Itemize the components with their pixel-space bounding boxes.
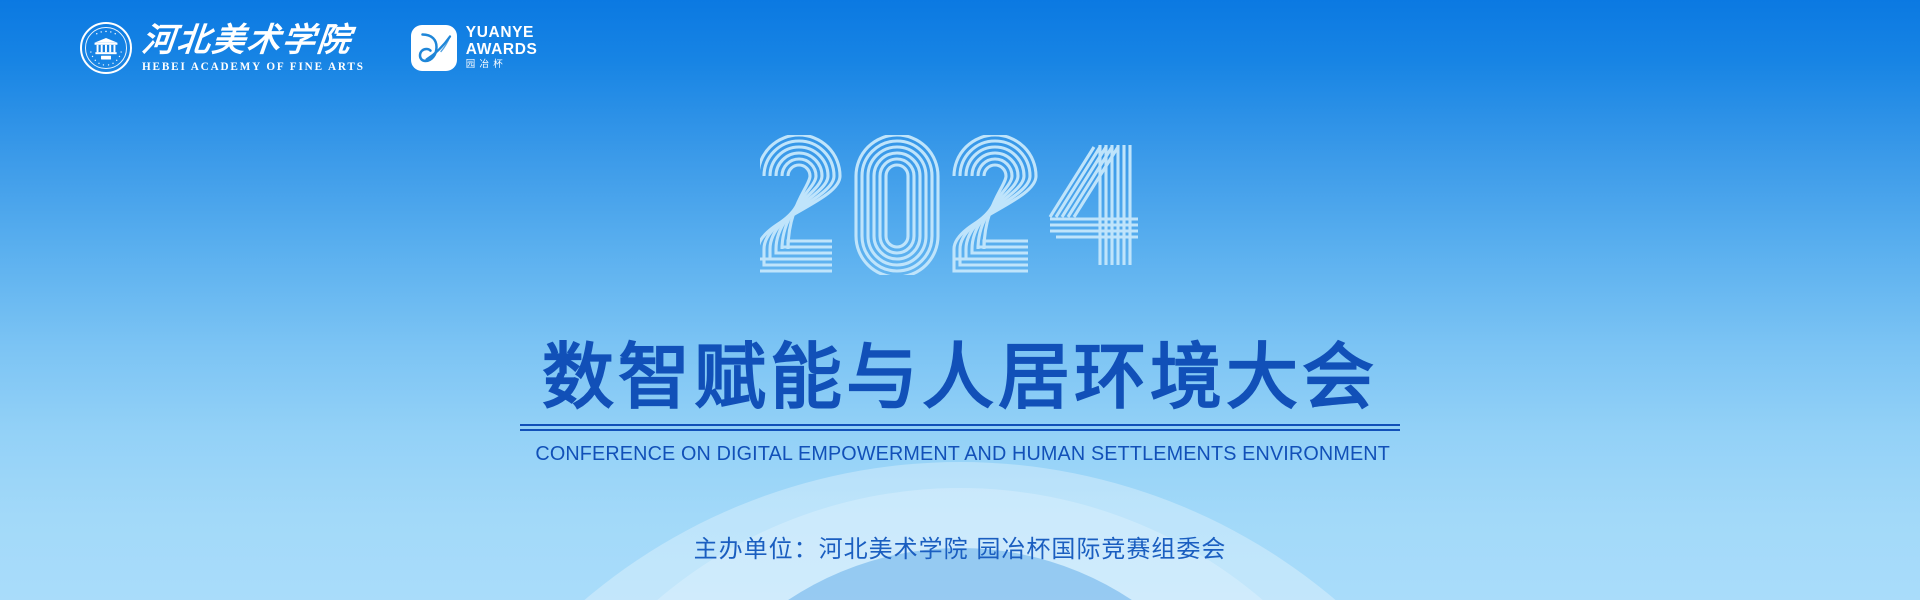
yuanye-line-3-cn: 园冶杯 bbox=[466, 58, 538, 71]
yuanye-awards-logo: YUANYE AWARDS 园冶杯 bbox=[411, 25, 538, 71]
title-rule-1 bbox=[520, 424, 1400, 426]
hebei-academy-seal-icon bbox=[80, 22, 132, 74]
yuanye-awards-wordmark: YUANYE AWARDS 园冶杯 bbox=[466, 25, 538, 71]
hebei-academy-logo: 河北美术学院 HEBEI ACADEMY OF FINE ARTS bbox=[80, 22, 365, 74]
conference-title-en: CONFERENCE ON DIGITAL EMPOWERMENT AND HU… bbox=[535, 442, 1384, 466]
yuanye-line-2: AWARDS bbox=[466, 41, 538, 58]
hebei-academy-name-cn: 河北美术学院 bbox=[140, 23, 367, 59]
arc-outer-shape bbox=[380, 462, 1540, 600]
logo-row: 河北美术学院 HEBEI ACADEMY OF FINE ARTS YUANYE… bbox=[80, 22, 537, 74]
title-block: 数智赋能与人居环境大会 CONFERENCE ON DIGITAL EMPOWE… bbox=[520, 338, 1400, 466]
conference-banner: 河北美术学院 HEBEI ACADEMY OF FINE ARTS YUANYE… bbox=[0, 0, 1920, 600]
title-rule-2 bbox=[520, 429, 1400, 431]
background-decoration bbox=[0, 0, 1920, 600]
organizer-line: 主办单位：河北美术学院 园冶杯国际竞赛组委会 bbox=[520, 535, 1400, 565]
hebei-academy-wordmark: 河北美术学院 HEBEI ACADEMY OF FINE ARTS bbox=[142, 23, 365, 73]
yuanye-line-1: YUANYE bbox=[466, 25, 538, 41]
year-2024-graphic bbox=[760, 135, 1160, 275]
conference-title-cn: 数智赋能与人居环境大会 bbox=[520, 338, 1400, 418]
hebei-academy-name-en: HEBEI ACADEMY OF FINE ARTS bbox=[142, 61, 365, 73]
title-divider bbox=[520, 424, 1400, 431]
yuanye-swoosh-icon bbox=[411, 25, 457, 71]
